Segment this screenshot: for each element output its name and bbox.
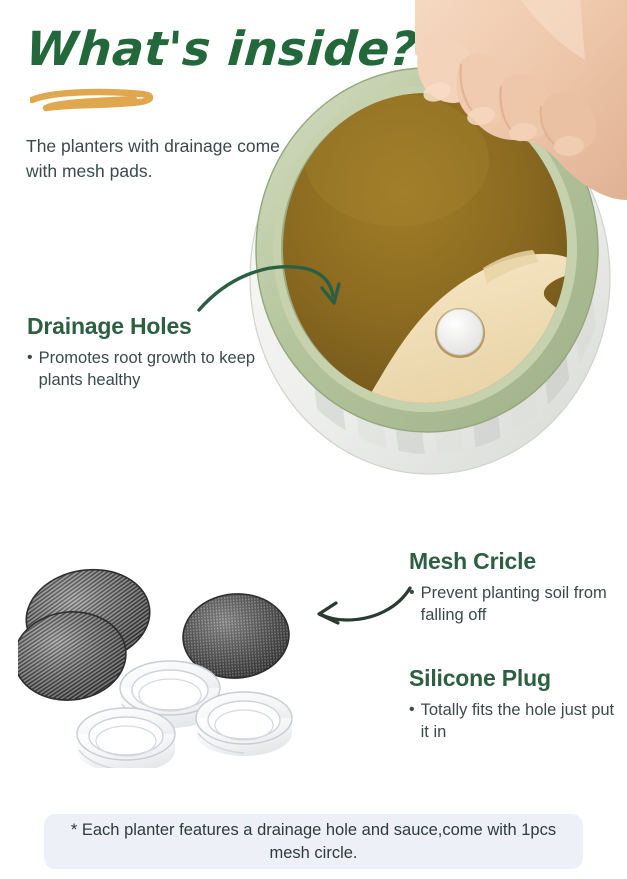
silicone-plug: [77, 708, 175, 768]
title-underline-swash: [30, 88, 162, 114]
feature-bullet-plug: • Totally fits the hole just put it in: [409, 699, 619, 744]
feature-heading-plug: Silicone Plug: [409, 665, 619, 692]
bullet-dot-icon: •: [27, 347, 33, 369]
footer-note-text: * Each planter features a drainage hole …: [66, 819, 561, 863]
footer-note-box: * Each planter features a drainage hole …: [44, 814, 583, 869]
feature-bullet-mesh: • Prevent planting soil from falling off: [409, 582, 619, 627]
feature-bullet-text-plug: Totally fits the hole just put it in: [421, 699, 619, 744]
feature-drainage-holes: Drainage Holes • Promotes root growth to…: [27, 313, 277, 392]
bullet-dot-icon: •: [409, 582, 415, 604]
feature-bullet-text-drainage: Promotes root growth to keep plants heal…: [39, 347, 277, 392]
bullet-dot-icon: •: [409, 699, 415, 721]
feature-heading-mesh: Mesh Cricle: [409, 548, 619, 575]
feature-heading-drainage: Drainage Holes: [27, 313, 277, 340]
feature-mesh-circle: Mesh Cricle • Prevent planting soil from…: [409, 548, 619, 627]
silicone-plug: [196, 692, 292, 756]
drainage-hole: [435, 308, 485, 358]
feature-bullet-text-mesh: Prevent planting soil from falling off: [421, 582, 619, 627]
planter-photo: [247, 0, 627, 500]
feature-bullet-drainage: • Promotes root growth to keep plants he…: [27, 347, 277, 392]
accessories-photo: [18, 538, 328, 768]
feature-silicone-plug: Silicone Plug • Totally fits the hole ju…: [409, 665, 619, 744]
